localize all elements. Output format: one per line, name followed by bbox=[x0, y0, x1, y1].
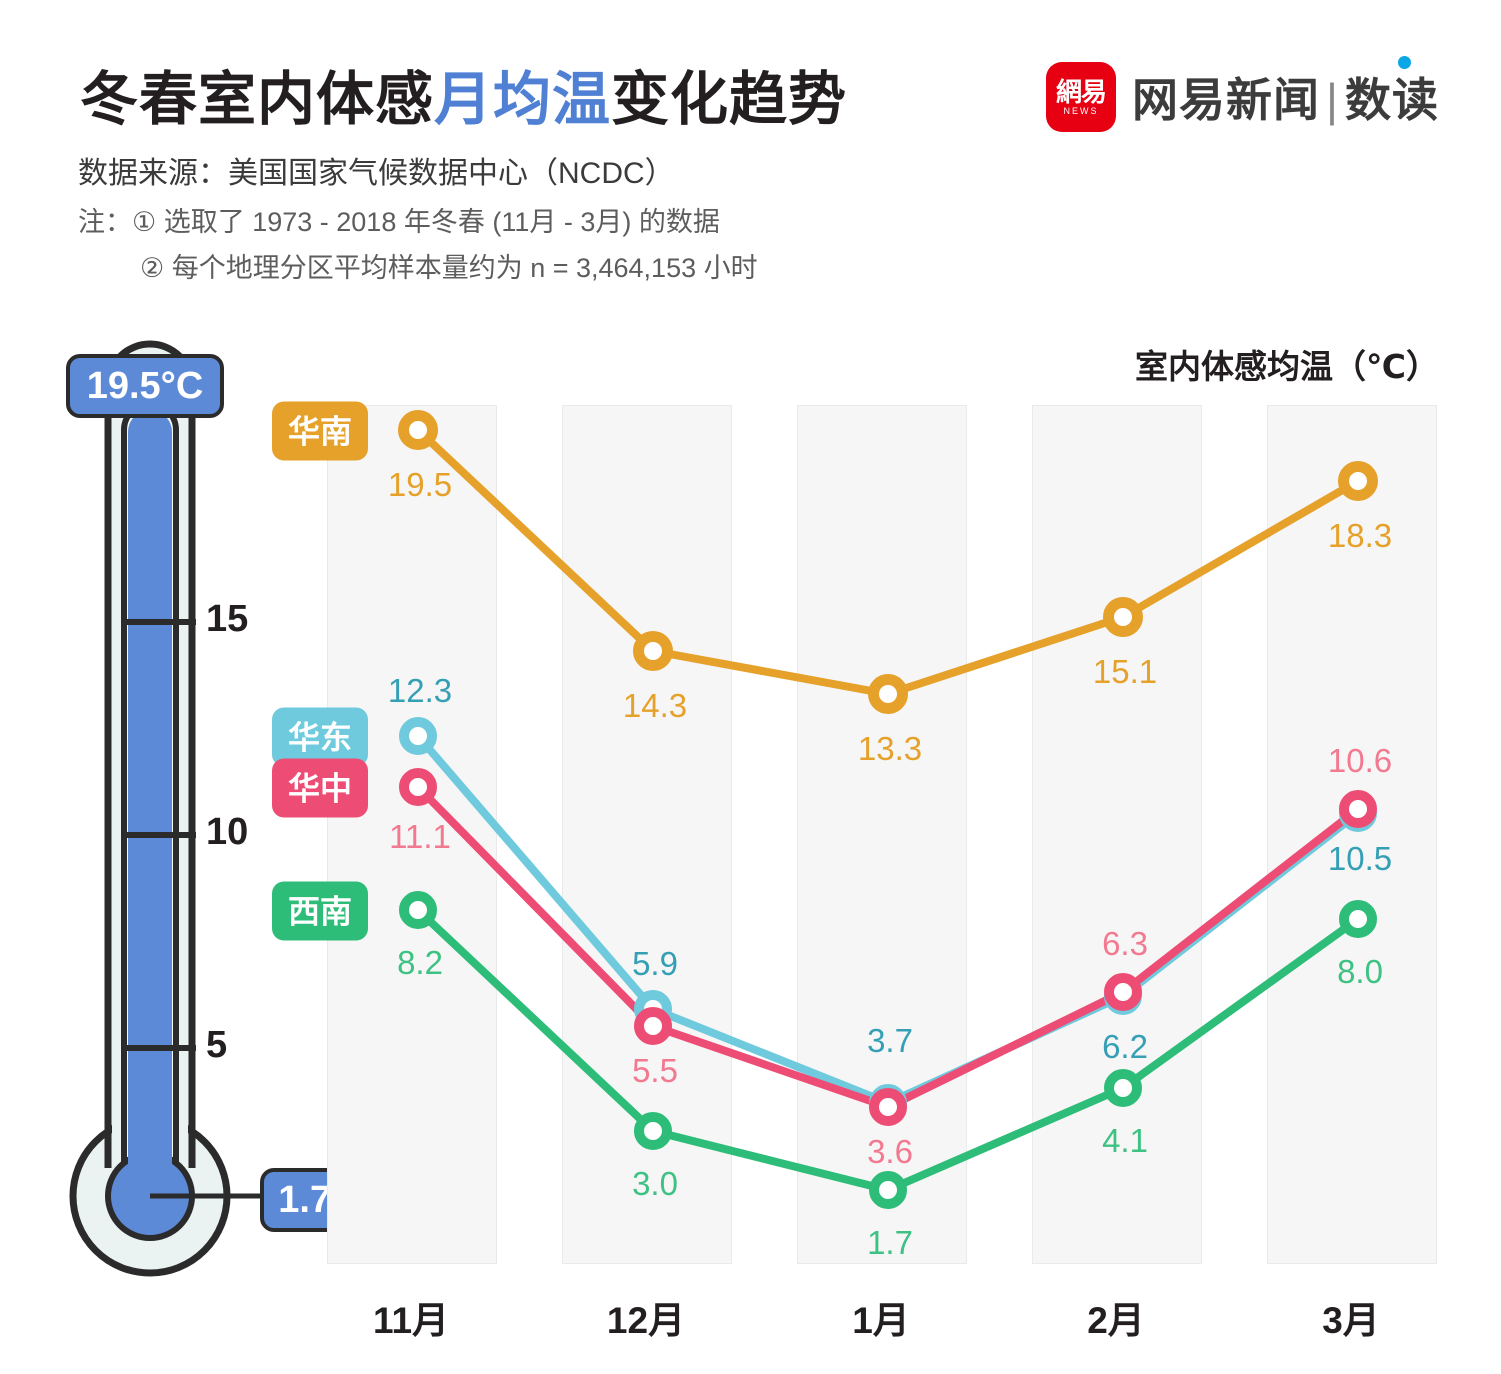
value-huazhong-3月: 10.6 bbox=[1328, 742, 1392, 780]
value-xinan-3月: 8.0 bbox=[1337, 953, 1383, 991]
value-huadong-2月: 6.2 bbox=[1102, 1028, 1148, 1066]
point-huanan-11月[interactable] bbox=[398, 410, 438, 450]
point-huanan-1月[interactable] bbox=[868, 674, 908, 714]
value-huanan-3月: 18.3 bbox=[1328, 517, 1392, 555]
x-axis-label-11月: 11月 bbox=[373, 1290, 449, 1344]
point-huadong-11月[interactable] bbox=[399, 717, 437, 755]
value-huazhong-2月: 6.3 bbox=[1102, 925, 1148, 963]
value-huadong-1月: 3.7 bbox=[867, 1022, 913, 1060]
point-xinan-2月[interactable] bbox=[1104, 1069, 1142, 1107]
value-huadong-11月: 12.3 bbox=[388, 672, 452, 710]
point-huazhong-1月[interactable] bbox=[869, 1088, 907, 1126]
value-huadong-12月: 5.9 bbox=[632, 945, 678, 983]
point-huazhong-2月[interactable] bbox=[1104, 973, 1142, 1011]
point-huazhong-11月[interactable] bbox=[399, 768, 437, 806]
legend-badge-xinan[interactable]: 西南 bbox=[272, 882, 368, 941]
value-huadong-3月: 10.5 bbox=[1328, 840, 1392, 878]
legend-badge-huazhong[interactable]: 华中 bbox=[272, 759, 368, 818]
legend-badge-huanan[interactable]: 华南 bbox=[272, 402, 368, 461]
point-huanan-12月[interactable] bbox=[633, 631, 673, 671]
value-huanan-12月: 14.3 bbox=[623, 687, 687, 725]
value-huanan-11月: 19.5 bbox=[388, 466, 452, 504]
point-xinan-3月[interactable] bbox=[1339, 900, 1377, 938]
point-huanan-2月[interactable] bbox=[1103, 597, 1143, 637]
value-huazhong-1月: 3.6 bbox=[867, 1133, 913, 1171]
value-huanan-1月: 13.3 bbox=[858, 730, 922, 768]
point-xinan-11月[interactable] bbox=[399, 891, 437, 929]
point-xinan-1月[interactable] bbox=[869, 1171, 907, 1209]
point-huazhong-12月[interactable] bbox=[634, 1007, 672, 1045]
value-xinan-11月: 8.2 bbox=[397, 944, 443, 982]
point-huanan-3月[interactable] bbox=[1338, 461, 1378, 501]
value-huanan-2月: 15.1 bbox=[1093, 653, 1157, 691]
value-xinan-12月: 3.0 bbox=[632, 1165, 678, 1203]
x-axis-label-2月: 2月 bbox=[1087, 1290, 1145, 1344]
x-axis-label-3月: 3月 bbox=[1322, 1290, 1380, 1344]
value-xinan-1月: 1.7 bbox=[867, 1224, 913, 1262]
point-xinan-12月[interactable] bbox=[634, 1112, 672, 1150]
value-xinan-2月: 4.1 bbox=[1102, 1122, 1148, 1160]
x-axis-label-12月: 12月 bbox=[607, 1290, 685, 1344]
value-huazhong-11月: 11.1 bbox=[389, 818, 451, 856]
line-chart: 19.5 14.3 13.3 15.1 18.3 12.3 5.9 3.7 6.… bbox=[0, 0, 1501, 1374]
x-axis-label-1月: 1月 bbox=[852, 1290, 910, 1344]
point-huazhong-3月[interactable] bbox=[1339, 790, 1377, 828]
value-huazhong-12月: 5.5 bbox=[632, 1052, 678, 1090]
